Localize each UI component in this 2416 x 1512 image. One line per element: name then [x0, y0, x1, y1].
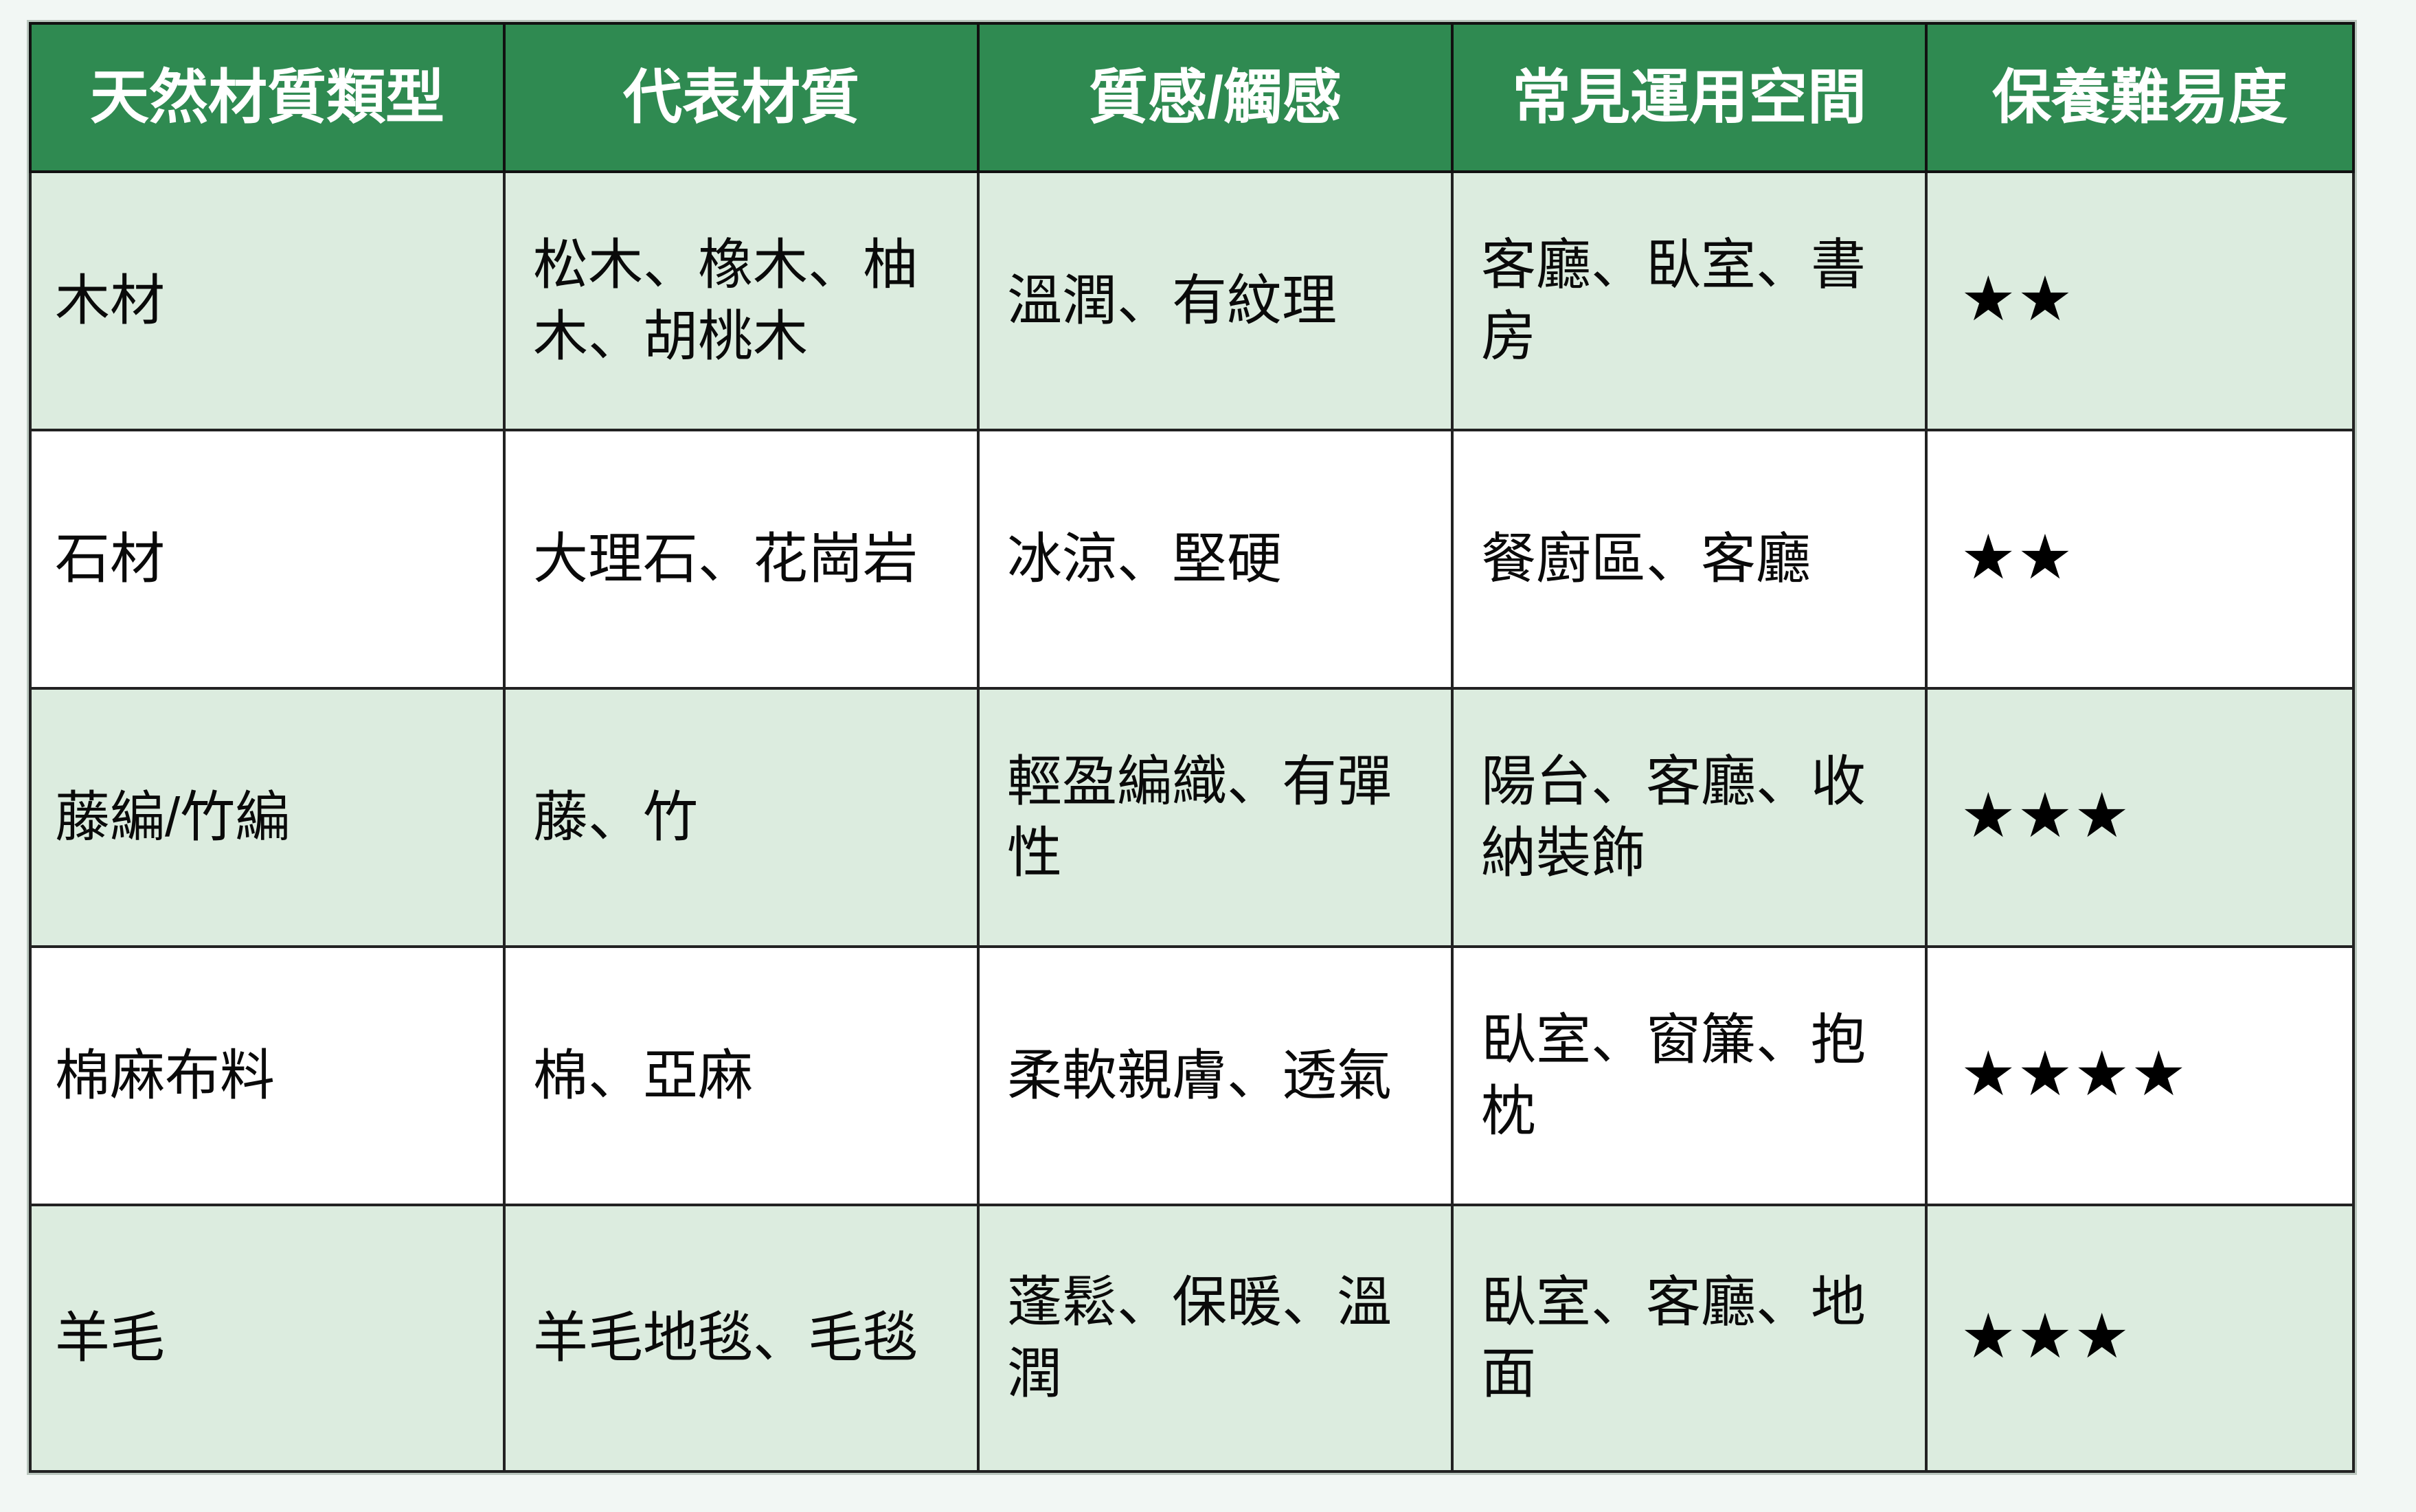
star-rating-icon: ★★★: [1961, 1306, 2131, 1368]
header-row: 天然材質類型 代表材質 質感/觸感 常見運用空間 保養難易度: [30, 23, 2353, 172]
cell-texture: 冰涼、堅硬: [978, 430, 1452, 688]
cell-maintenance-rating: ★★★: [1926, 1205, 2353, 1471]
page-canvas: 天然材質類型 代表材質 質感/觸感 常見運用空間 保養難易度 木材 松木、橡木、…: [0, 0, 2416, 1512]
cell-usage-space: 陽台、客廳、收納裝飾: [1452, 688, 1926, 947]
cell-representative: 大理石、花崗岩: [504, 430, 978, 688]
cell-usage-space: 客廳、臥室、書房: [1452, 172, 1926, 430]
column-header-usage-space: 常見運用空間: [1452, 23, 1926, 172]
cell-representative: 棉、亞麻: [504, 947, 978, 1205]
star-rating-icon: ★★: [1961, 527, 2074, 589]
table-body: 木材 松木、橡木、柚木、胡桃木 溫潤、有紋理 客廳、臥室、書房 ★★ 石材 大理…: [30, 172, 2353, 1471]
star-rating-icon: ★★★★: [1961, 1043, 2188, 1105]
cell-representative: 藤、竹: [504, 688, 978, 947]
cell-material-type: 羊毛: [30, 1205, 504, 1471]
cell-texture: 溫潤、有紋理: [978, 172, 1452, 430]
column-header-maintenance: 保養難易度: [1926, 23, 2353, 172]
table-row: 藤編/竹編 藤、竹 輕盈編織、有彈性 陽台、客廳、收納裝飾 ★★★: [30, 688, 2353, 947]
table-header: 天然材質類型 代表材質 質感/觸感 常見運用空間 保養難易度: [30, 23, 2353, 172]
cell-maintenance-rating: ★★★: [1926, 688, 2353, 947]
cell-material-type: 木材: [30, 172, 504, 430]
cell-maintenance-rating: ★★: [1926, 172, 2353, 430]
natural-materials-table: 天然材質類型 代表材質 質感/觸感 常見運用空間 保養難易度 木材 松木、橡木、…: [29, 22, 2355, 1473]
cell-usage-space: 臥室、客廳、地面: [1452, 1205, 1926, 1471]
cell-material-type: 石材: [30, 430, 504, 688]
column-header-representative: 代表材質: [504, 23, 978, 172]
cell-material-type: 棉麻布料: [30, 947, 504, 1205]
table-row: 石材 大理石、花崗岩 冰涼、堅硬 餐廚區、客廳 ★★: [30, 430, 2353, 688]
cell-texture: 柔軟親膚、透氣: [978, 947, 1452, 1205]
star-rating-icon: ★★★: [1961, 785, 2131, 847]
cell-texture: 蓬鬆、保暖、溫潤: [978, 1205, 1452, 1471]
cell-material-type: 藤編/竹編: [30, 688, 504, 947]
table-row: 木材 松木、橡木、柚木、胡桃木 溫潤、有紋理 客廳、臥室、書房 ★★: [30, 172, 2353, 430]
table-row: 羊毛 羊毛地毯、毛毯 蓬鬆、保暖、溫潤 臥室、客廳、地面 ★★★: [30, 1205, 2353, 1471]
cell-usage-space: 餐廚區、客廳: [1452, 430, 1926, 688]
cell-representative: 羊毛地毯、毛毯: [504, 1205, 978, 1471]
star-rating-icon: ★★: [1961, 269, 2074, 330]
cell-texture: 輕盈編織、有彈性: [978, 688, 1452, 947]
column-header-material-type: 天然材質類型: [30, 23, 504, 172]
cell-representative: 松木、橡木、柚木、胡桃木: [504, 172, 978, 430]
column-header-texture: 質感/觸感: [978, 23, 1452, 172]
materials-table-container: 天然材質類型 代表材質 質感/觸感 常見運用空間 保養難易度 木材 松木、橡木、…: [29, 22, 2352, 1473]
cell-maintenance-rating: ★★: [1926, 430, 2353, 688]
table-row: 棉麻布料 棉、亞麻 柔軟親膚、透氣 臥室、窗簾、抱枕 ★★★★: [30, 947, 2353, 1205]
cell-usage-space: 臥室、窗簾、抱枕: [1452, 947, 1926, 1205]
cell-maintenance-rating: ★★★★: [1926, 947, 2353, 1205]
